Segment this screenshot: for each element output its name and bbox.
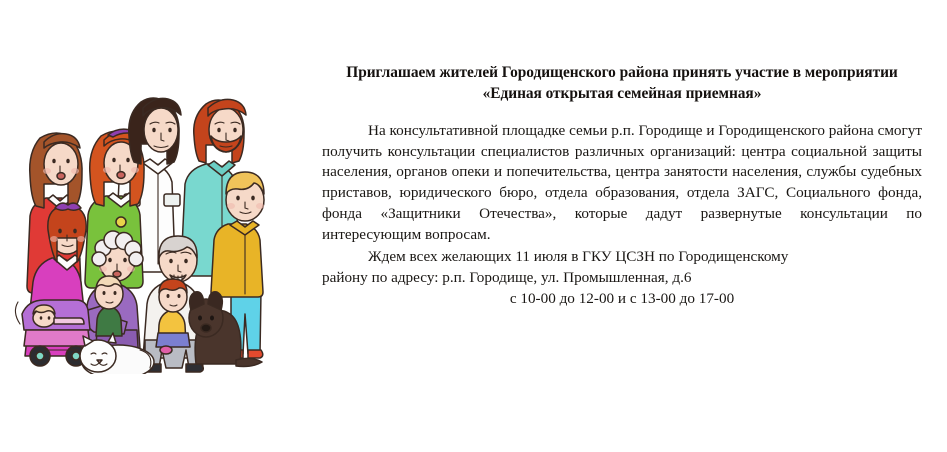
head-man-dark-hair bbox=[129, 98, 181, 164]
cartoon-family-illustration: .ol { stroke:#3b2a22; stroke-width:1.5; … bbox=[0, 78, 320, 374]
body-text: На консультативной площадке семьи р.п. Г… bbox=[322, 121, 922, 309]
text-column: Приглашаем жителей Городищенского района… bbox=[322, 62, 922, 309]
hours-line: с 10-00 до 12-00 и с 13-00 до 17-00 bbox=[322, 289, 922, 310]
announcement-page: .ol { stroke:#3b2a22; stroke-width:1.5; … bbox=[0, 0, 947, 452]
paragraph-consultation-info: На консультативной площадке семьи р.п. Г… bbox=[322, 121, 922, 245]
page-title: Приглашаем жителей Городищенского района… bbox=[336, 62, 908, 104]
family-illustration-svg: .ol { stroke:#3b2a22; stroke-width:1.5; … bbox=[0, 78, 320, 374]
head-man-ginger-beard bbox=[194, 99, 246, 163]
address-line: району по адресу: р.п. Городище, ул. Про… bbox=[322, 268, 922, 289]
paragraph-invitation: Ждем всех желающих 11 июля в ГКУ ЦСЗН по… bbox=[322, 247, 922, 268]
